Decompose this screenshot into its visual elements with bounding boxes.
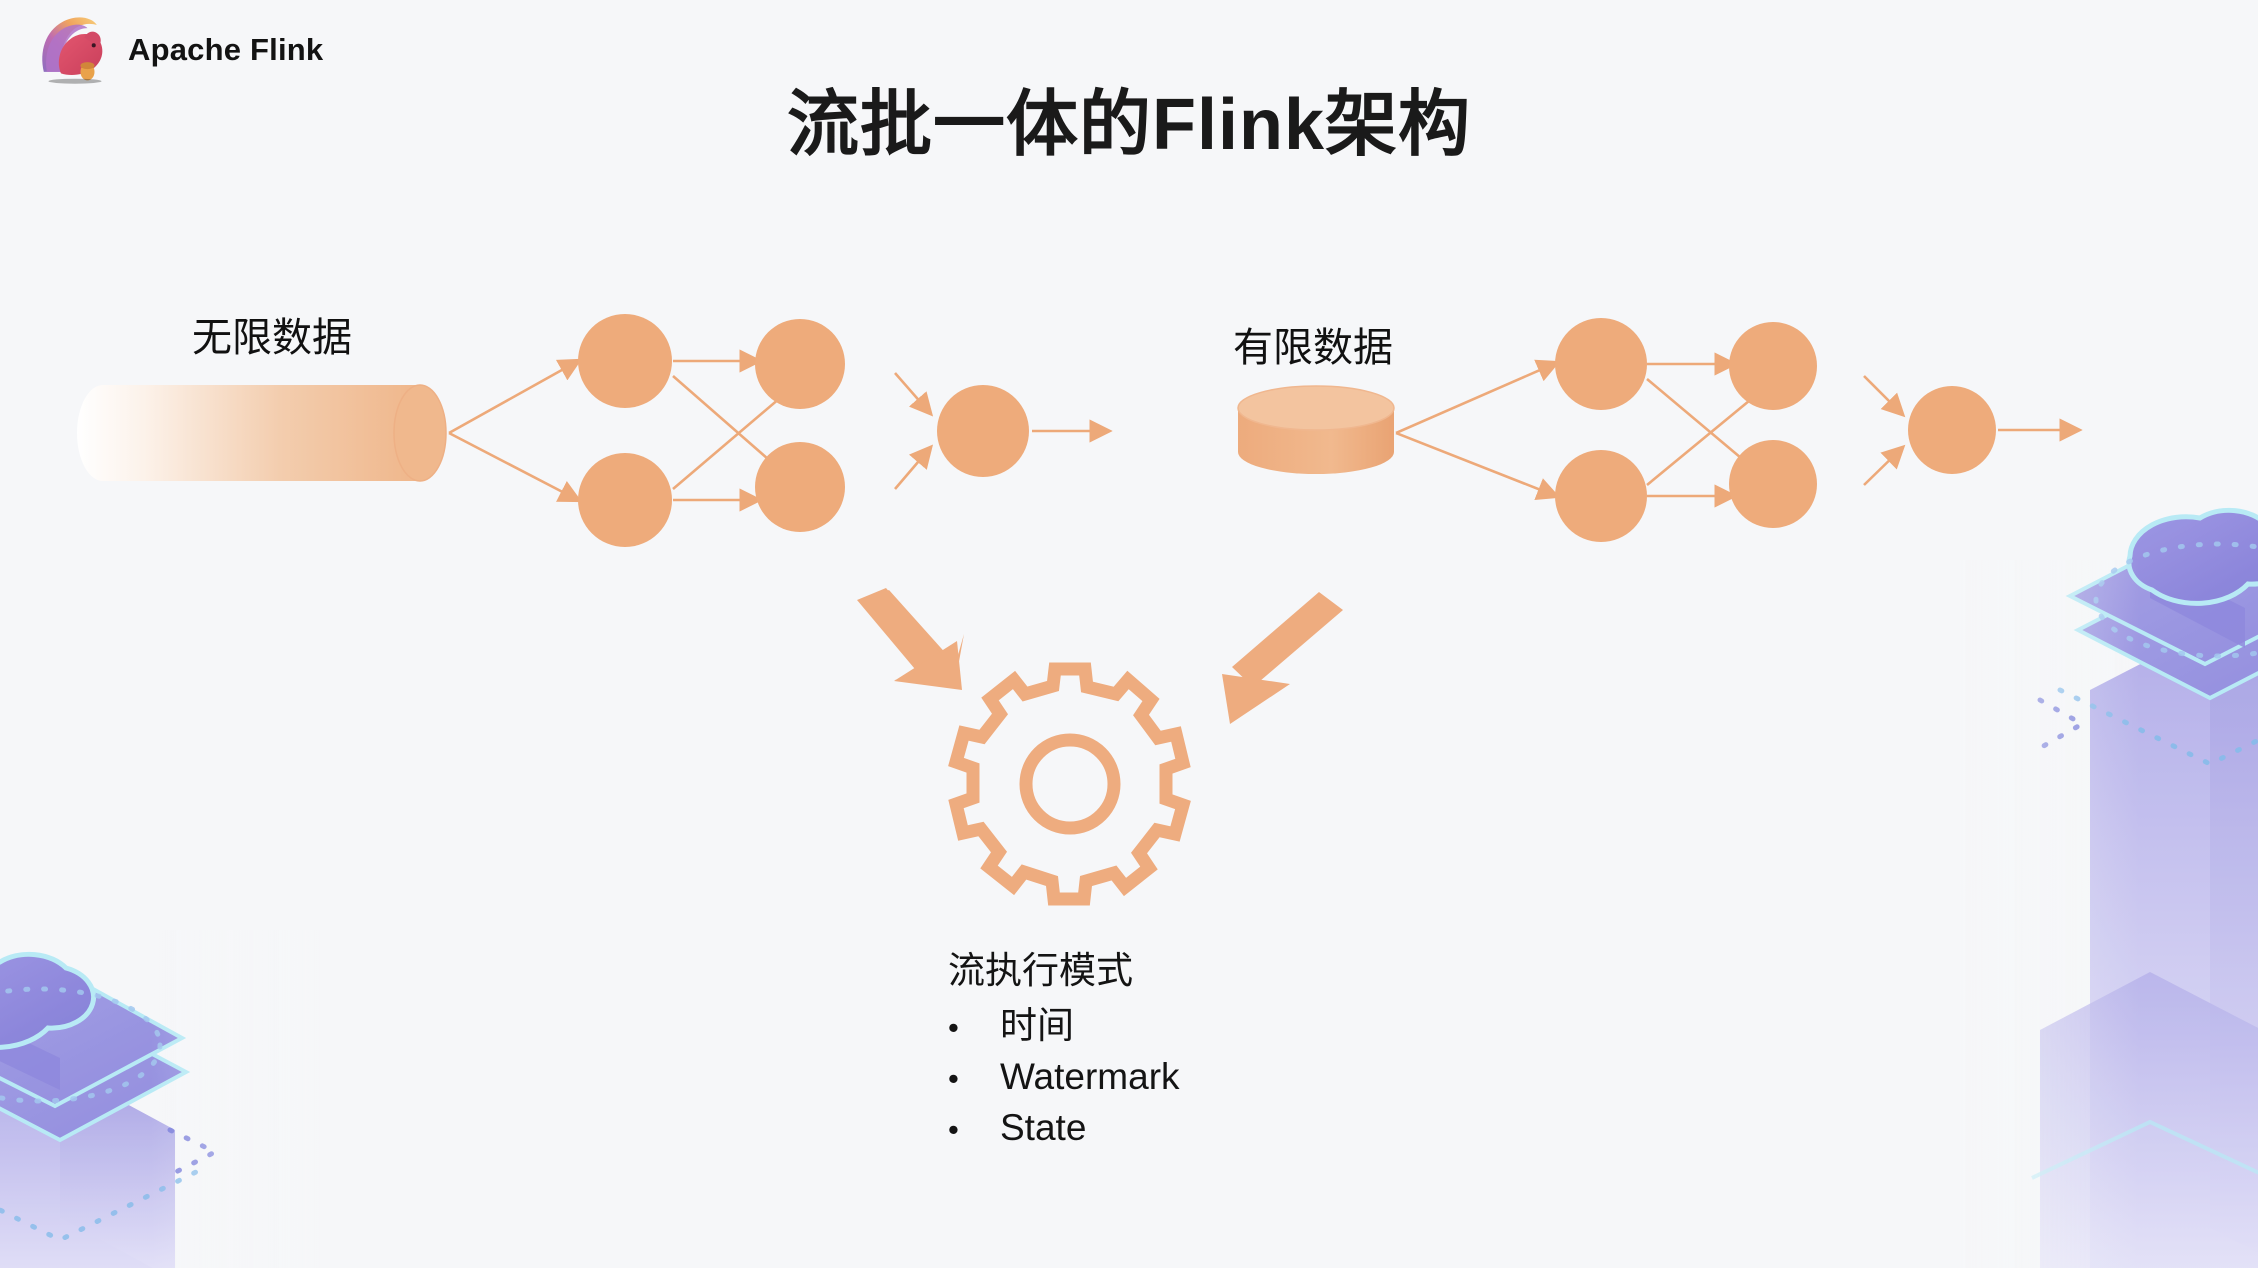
pipeline-node: [755, 442, 845, 532]
list-item-label: Watermark: [1000, 1051, 1180, 1102]
left-pipeline-edges: [449, 361, 1108, 500]
brand-name: Apache Flink: [128, 32, 323, 68]
pipeline-node: [578, 453, 672, 547]
page-title: 流批一体的Flink架构: [0, 88, 2258, 164]
gear-icon: [956, 669, 1183, 899]
caption-bullet-list: • 时间 • Watermark • State: [948, 1000, 1180, 1153]
convergence-arrows: [857, 588, 1343, 724]
slide-root: Apache Flink 流批一体的Flink架构 无限数据 有限数据 流执行模…: [0, 0, 2258, 1268]
pipeline-node: [755, 319, 845, 409]
list-item: • 时间: [948, 1000, 1180, 1051]
pipeline-node: [1908, 386, 1996, 474]
bullet-icon: •: [948, 1058, 1000, 1101]
unbounded-data-label: 无限数据: [192, 305, 352, 363]
isometric-cloud-tower-left: [0, 930, 320, 1268]
pipeline-node: [1555, 318, 1647, 410]
caption-heading: 流执行模式: [948, 947, 1180, 996]
bounded-database-source: [1238, 386, 1394, 474]
bounded-data-label: 有限数据: [1233, 315, 1393, 373]
right-pipeline-edges: [1396, 363, 2078, 496]
pipeline-node: [1729, 440, 1817, 528]
flink-squirrel-logo-icon: [36, 14, 114, 86]
unbounded-stream-source: [77, 385, 446, 481]
bullet-icon: •: [948, 1007, 1000, 1050]
list-item-label: State: [1000, 1102, 1086, 1153]
thick-arrow-down-left-icon: [1222, 592, 1343, 724]
list-item: • State: [948, 1102, 1180, 1153]
isometric-cloud-tower-right: [1960, 510, 2258, 1268]
bullet-icon: •: [948, 1109, 1000, 1152]
cloud-shape-left: [0, 954, 94, 1047]
cloud-shape-right: [2129, 510, 2258, 603]
right-pipeline-nodes: [1555, 318, 1996, 542]
pipeline-node: [1729, 322, 1817, 410]
stream-mode-caption: 流执行模式 • 时间 • Watermark • State: [948, 947, 1180, 1153]
list-item: • Watermark: [948, 1051, 1180, 1102]
list-item-label: 时间: [1000, 1000, 1074, 1051]
pipeline-node: [1555, 450, 1647, 542]
pipeline-node: [937, 385, 1029, 477]
left-pipeline-nodes: [578, 314, 1029, 547]
brand: Apache Flink: [36, 14, 323, 86]
thick-arrow-down-right-icon: [857, 588, 964, 690]
pipeline-node: [578, 314, 672, 408]
